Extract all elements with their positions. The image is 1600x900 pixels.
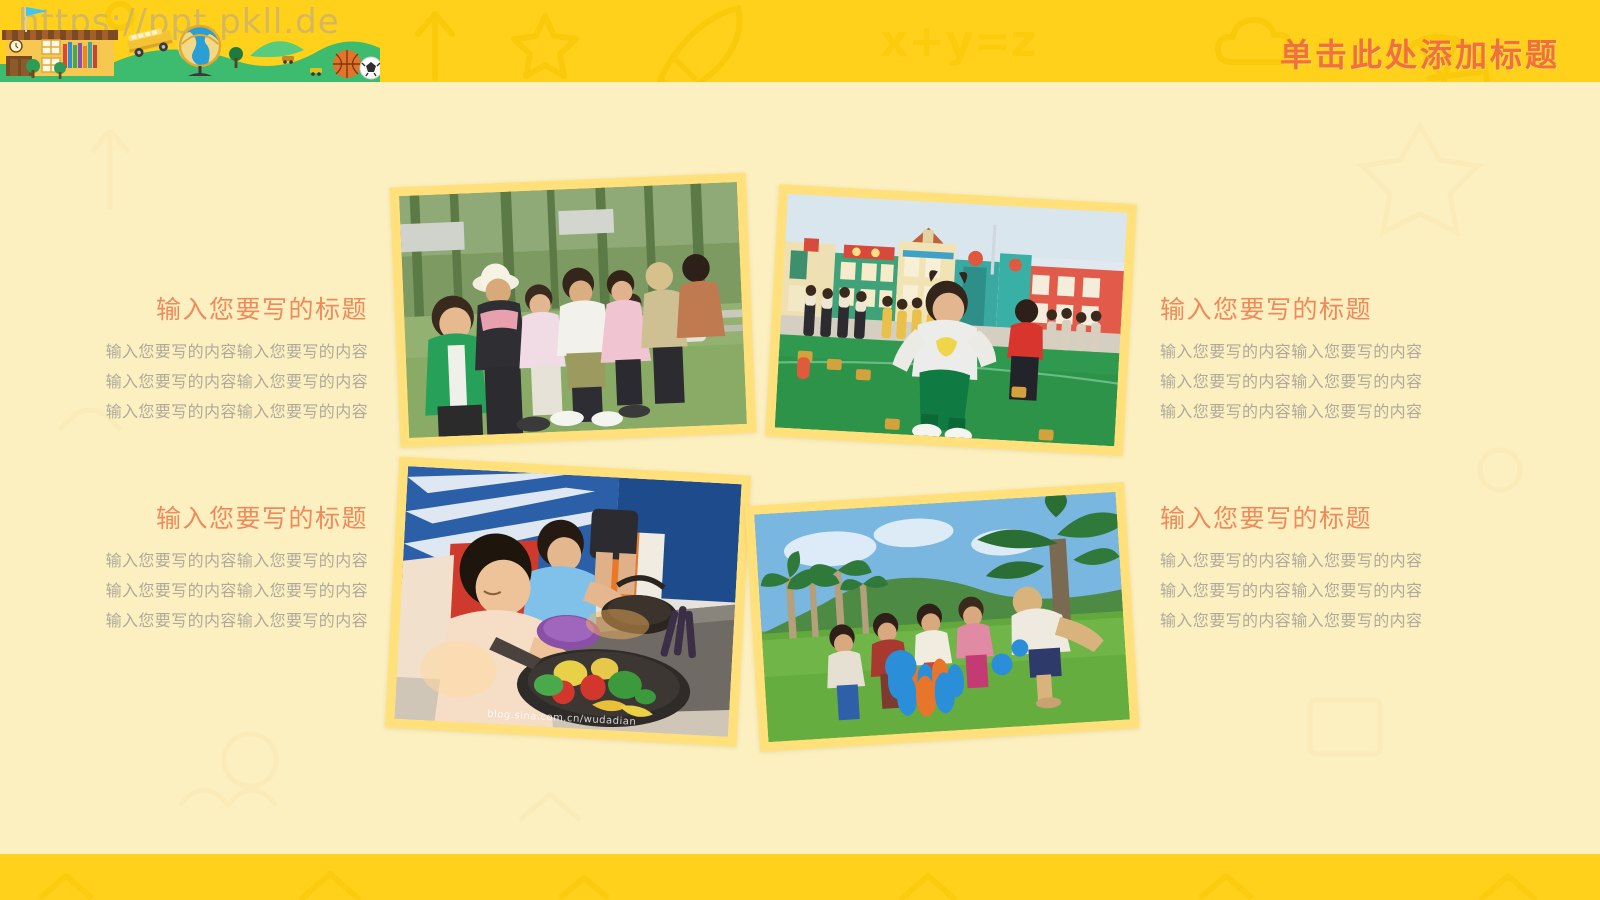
text-block-heading[interactable]: 输入您要写的标题	[1160, 290, 1450, 326]
text-block-heading[interactable]: 输入您要写的标题	[78, 290, 368, 326]
photo-image-children-lawn-bowling	[754, 492, 1130, 742]
text-block-bottom-right[interactable]: 输入您要写的标题 输入您要写的内容输入您要写的内容 输入您要写的内容输入您要写的…	[1160, 499, 1450, 637]
bookshelf-icon	[62, 42, 100, 68]
page-title[interactable]: 单击此处添加标题	[1280, 30, 1560, 76]
text-block-line: 输入您要写的内容输入您要写的内容	[1160, 607, 1450, 637]
slide-canvas: x+y=z https://ppt.pkll.de	[0, 0, 1600, 900]
text-block-line: 输入您要写的内容输入您要写的内容	[1160, 547, 1450, 577]
background-doodle-pattern	[0, 0, 1600, 900]
text-block-line: 输入您要写的内容输入您要写的内容	[78, 338, 368, 368]
text-block-heading[interactable]: 输入您要写的标题	[1160, 499, 1450, 535]
soccer-ball-icon	[360, 57, 380, 79]
text-block-line: 输入您要写的内容输入您要写的内容	[1160, 577, 1450, 607]
photo-frame-child-running-kindergarten[interactable]	[765, 184, 1137, 456]
text-block-line: 输入您要写的内容输入您要写的内容	[78, 607, 368, 637]
equation-doodle-text: x+y=z	[880, 16, 1036, 67]
header-illustration	[0, 0, 380, 82]
footer-doodle-pattern	[0, 854, 1600, 900]
text-block-line: 输入您要写的内容输入您要写的内容	[1160, 338, 1450, 368]
text-block-top-right[interactable]: 输入您要写的标题 输入您要写的内容输入您要写的内容 输入您要写的内容输入您要写的…	[1160, 290, 1450, 428]
photo-image-children-train-game	[399, 182, 747, 438]
photo-frame-children-toy-kitchen[interactable]: blog.sina.com.cn/wudadian	[385, 457, 751, 747]
text-block-line: 输入您要写的内容输入您要写的内容	[78, 547, 368, 577]
header-band: x+y=z https://ppt.pkll.de	[0, 0, 1600, 82]
text-block-bottom-left[interactable]: 输入您要写的标题 输入您要写的内容输入您要写的内容 输入您要写的内容输入您要写的…	[78, 499, 368, 637]
photo-image-children-toy-kitchen: blog.sina.com.cn/wudadian	[394, 466, 741, 737]
text-block-heading[interactable]: 输入您要写的标题	[78, 499, 368, 535]
text-block-line: 输入您要写的内容输入您要写的内容	[78, 368, 368, 398]
footer-band	[0, 854, 1600, 900]
basketball-icon	[333, 50, 361, 78]
text-block-top-left[interactable]: 输入您要写的标题 输入您要写的内容输入您要写的内容 输入您要写的内容输入您要写的…	[78, 290, 368, 428]
photo-image-child-running-kindergarten	[775, 194, 1128, 447]
text-block-line: 输入您要写的内容输入您要写的内容	[78, 398, 368, 428]
text-block-line: 输入您要写的内容输入您要写的内容	[1160, 398, 1450, 428]
photo-frame-children-lawn-bowling[interactable]	[745, 482, 1140, 751]
text-block-line: 输入您要写的内容输入您要写的内容	[1160, 368, 1450, 398]
photo-frame-children-train-game[interactable]	[390, 173, 757, 448]
text-block-line: 输入您要写的内容输入您要写的内容	[78, 577, 368, 607]
